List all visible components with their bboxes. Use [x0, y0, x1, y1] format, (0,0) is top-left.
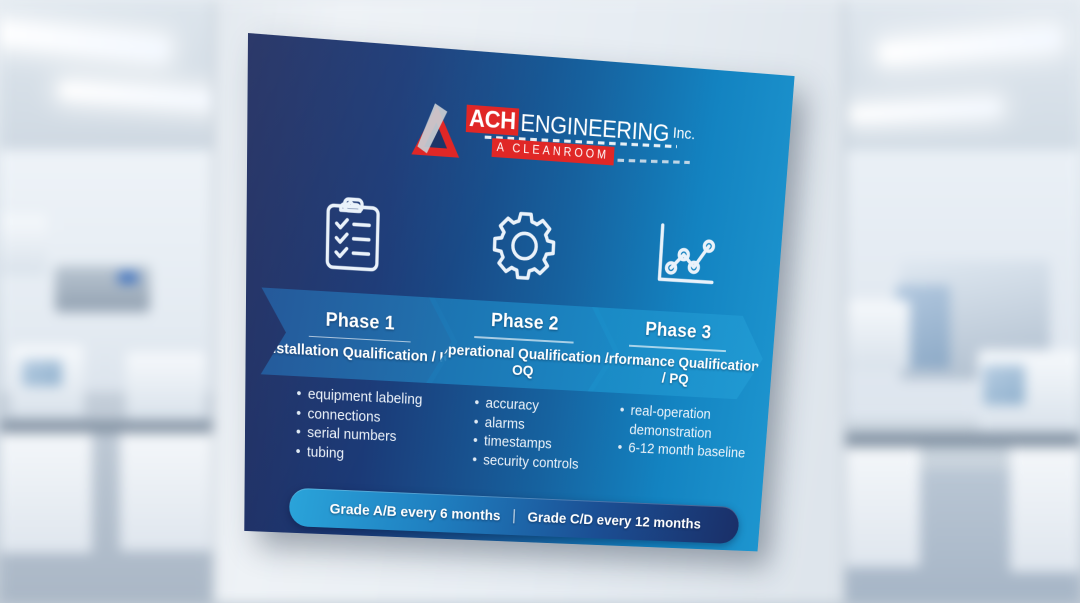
- poster-container: ACHENGINEERINGInc. A CLEANROOM: [0, 0, 1080, 603]
- logo-dashed-line-2: [606, 158, 689, 164]
- phase-2-subtitle: Operational Qualification / OQ: [426, 340, 618, 384]
- clipboard-checklist-icon: [294, 181, 411, 286]
- grade-ab-text: Grade A/B every 6 months: [330, 500, 501, 523]
- logo-wordmark: ACHENGINEERINGInc. A CLEANROOM: [465, 105, 679, 180]
- phase-3-subtitle: Performance Qualification / PQ: [588, 349, 763, 391]
- phase-chevrons-row: Phase 1 Installation Qualification / IQ …: [261, 287, 766, 400]
- phase-3-bullets: real-operation demonstration 6-12 month …: [617, 402, 771, 465]
- logo-badge-ach: ACH: [466, 105, 519, 136]
- phase-divider: [474, 336, 573, 343]
- logo-suffix: Inc.: [669, 125, 696, 143]
- phase-2-bullets: accuracy alarms timestamps security cont…: [472, 394, 620, 476]
- phase-divider: [309, 336, 411, 343]
- gear-icon: [467, 193, 583, 296]
- banner-separator: |: [512, 508, 516, 525]
- phase-chevron-2[interactable]: Phase 2 Operational Qualification / OQ: [426, 297, 621, 392]
- line-chart-icon: [629, 204, 744, 306]
- phase-1-title: Phase 1: [325, 309, 395, 335]
- qualification-poster: ACHENGINEERINGInc. A CLEANROOM: [244, 33, 794, 551]
- phase-divider: [629, 345, 726, 352]
- phase-icons-row: [246, 178, 784, 308]
- phase-3-title: Phase 3: [645, 319, 712, 344]
- grade-cd-text: Grade C/D every 12 months: [527, 509, 701, 532]
- red-triangle-a-logo: [407, 99, 465, 164]
- phase-1-bullets: equipment labeling connections serial nu…: [296, 385, 465, 469]
- company-logo: ACHENGINEERINGInc. A CLEANROOM: [407, 97, 678, 181]
- phase-chevron-1[interactable]: Phase 1 Installation Qualification / IQ: [261, 287, 459, 384]
- phase-chevron-3[interactable]: Phase 3 Performance Qualification / PQ: [587, 307, 766, 400]
- phase-2-title: Phase 2: [491, 310, 559, 336]
- phase-1-subtitle: Installation Qualification / IQ: [263, 340, 454, 367]
